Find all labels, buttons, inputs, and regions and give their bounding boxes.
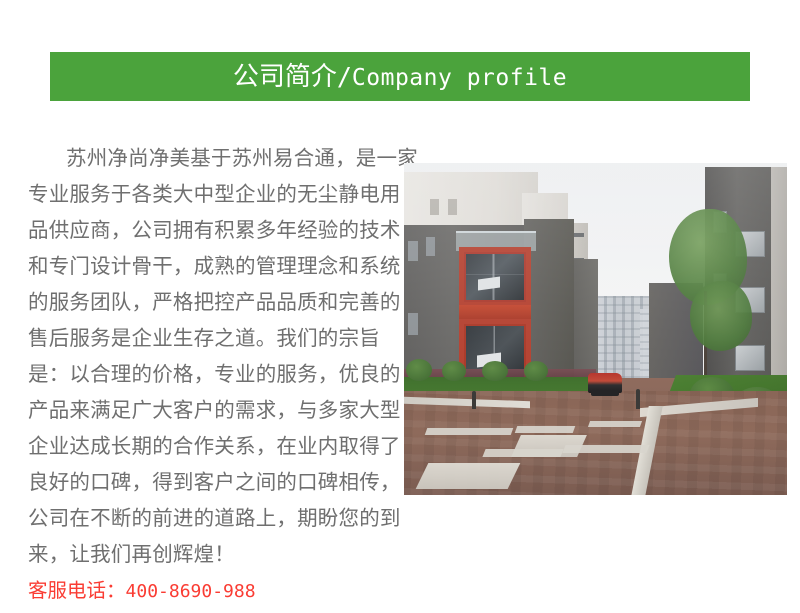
photo-shrub: [406, 359, 432, 381]
profile-line: 和专门设计骨干，成熟的管理理念和系统: [28, 248, 380, 284]
profile-line: 公司在不断的前进的道路上，期盼您的到: [28, 500, 380, 536]
photo-parking-line: [425, 428, 514, 435]
profile-paragraph: 苏州净尚净美基于苏州易合通，是一家 专业服务于各类大中型企业的无尘静电用 品供应…: [28, 140, 380, 572]
customer-service-number: 400-8690-988: [126, 581, 256, 602]
page-title-chinese: 公司简介: [233, 64, 337, 90]
profile-line: 苏州净尚净美基于苏州易合通，是一家: [28, 140, 380, 176]
photo-parking-line: [562, 445, 649, 453]
profile-line: 来，让我们再创辉煌！: [28, 536, 380, 572]
photo-shrub: [482, 361, 508, 381]
photo-bollard: [636, 389, 640, 409]
profile-line: 是：以合理的价格，专业的服务，优良的: [28, 356, 380, 392]
customer-service-label: 客服电话：: [28, 579, 126, 602]
page-title-separator: /: [337, 64, 352, 89]
photo-parking-line: [482, 449, 563, 457]
photo-parking-line: [588, 421, 642, 427]
photo-shrub: [442, 361, 466, 381]
profile-line: 的服务团队，严格把控产品品质和完善的: [28, 284, 380, 320]
photo-red-framed-window-upper: [459, 247, 531, 307]
photo-shrub: [524, 361, 548, 381]
photo-parked-vehicle: [588, 373, 622, 393]
profile-line: 产品来满足广大客户的需求，与多家大型: [28, 392, 380, 428]
photo-bollard: [472, 391, 476, 409]
photo-window: [448, 199, 457, 215]
profile-text-column: 苏州净尚净美基于苏州易合通，是一家 专业服务于各类大中型企业的无尘静电用 品供应…: [28, 140, 380, 609]
page-title: 公司简介/Company profile: [233, 64, 567, 90]
photo-window: [408, 313, 418, 335]
profile-line: 品供应商，公司拥有积累多年经验的技术: [28, 212, 380, 248]
photo-window: [735, 345, 765, 371]
photo-parking-line: [515, 426, 576, 433]
customer-service-phone: 客服电话：400-8690-988: [28, 572, 380, 609]
section-header-banner: 公司简介/Company profile: [50, 52, 750, 101]
profile-line: 良好的口碑，得到客户之间的口碑相传，: [28, 464, 380, 500]
company-profile-page: 公司简介/Company profile 苏州净尚净美基于苏州易合通，是一家 专…: [0, 0, 800, 613]
company-photo-image: [404, 163, 787, 495]
page-title-english: Company profile: [352, 67, 567, 90]
photo-window: [430, 199, 439, 215]
photo-window: [426, 237, 435, 256]
photo-parking-slab: [416, 463, 521, 489]
photo-tree: [690, 281, 752, 351]
profile-line: 企业达成长期的合作关系，在业内取得了: [28, 428, 380, 464]
profile-line: 专业服务于各类大中型企业的无尘静电用: [28, 176, 380, 212]
company-photo: [404, 163, 787, 495]
photo-window: [408, 241, 418, 261]
profile-line: 售后服务是企业生存之道。我们的宗旨: [28, 320, 380, 356]
